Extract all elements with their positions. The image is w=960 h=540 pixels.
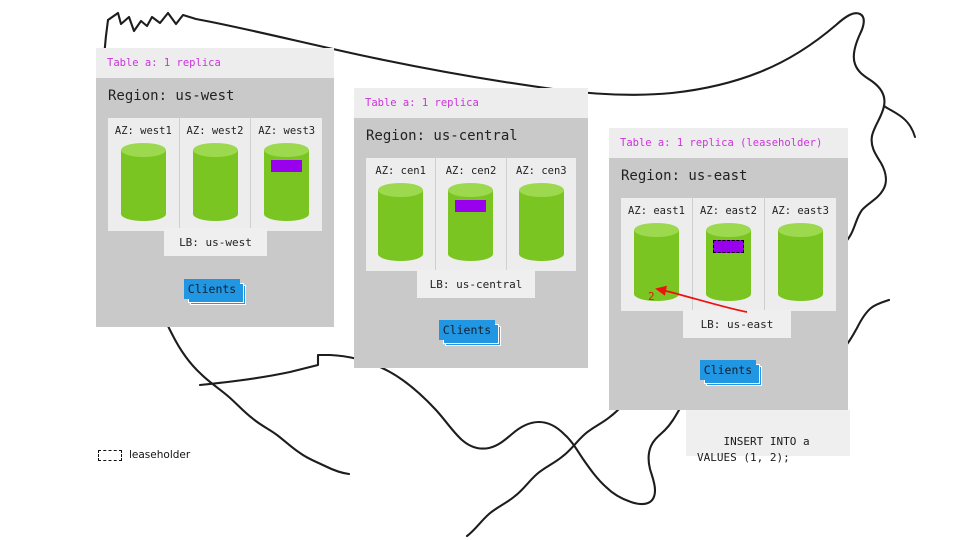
az-label: AZ: cen3 bbox=[516, 165, 567, 177]
clients-button[interactable]: Clients bbox=[700, 360, 756, 380]
cylinder-body bbox=[193, 150, 238, 214]
az-label: AZ: cen2 bbox=[446, 165, 497, 177]
cylinder-bottom bbox=[448, 247, 493, 261]
cylinder-top bbox=[519, 183, 564, 197]
cylinder-bottom bbox=[193, 207, 238, 221]
load-balancer-box-us-central[interactable]: LB: us-central bbox=[417, 270, 535, 298]
db-node-icon[interactable] bbox=[778, 223, 823, 301]
cylinder-body bbox=[121, 150, 166, 214]
cylinder-top bbox=[193, 143, 238, 157]
region-title-us-east: Region: us-east bbox=[609, 158, 848, 192]
cylinder-body bbox=[519, 190, 564, 254]
replica-status-label: Table a: 1 replica bbox=[365, 97, 479, 109]
az-label: AZ: east1 bbox=[628, 205, 685, 217]
load-balancer-box-us-west[interactable]: LB: us-west bbox=[164, 228, 267, 256]
region-panel-us-east: Table a: 1 replica (leaseholder) Region:… bbox=[609, 128, 848, 410]
az-cell-cen1[interactable]: AZ: cen1 bbox=[366, 158, 435, 271]
dashed-rect-icon bbox=[98, 450, 122, 461]
db-node-icon[interactable] bbox=[378, 183, 423, 261]
az-strip-us-central: AZ: cen1 AZ: cen2 AZ: cen3 bbox=[366, 158, 576, 271]
az-label: AZ: east2 bbox=[700, 205, 757, 217]
db-node-icon[interactable] bbox=[519, 183, 564, 261]
arrow-step-label: 2 bbox=[648, 290, 655, 303]
region-panel-us-central: Table a: 1 replica Region: us-central AZ… bbox=[354, 88, 588, 368]
sql-statement-callout: INSERT INTO a VALUES (1, 2); bbox=[686, 410, 850, 456]
clients-button[interactable]: Clients bbox=[184, 279, 240, 299]
cylinder-top bbox=[706, 223, 751, 237]
db-node-icon[interactable] bbox=[448, 183, 493, 261]
az-label: AZ: west2 bbox=[187, 125, 244, 137]
replica-status-label: Table a: 1 replica (leaseholder) bbox=[620, 137, 822, 149]
az-label: AZ: cen1 bbox=[375, 165, 426, 177]
cylinder-top bbox=[121, 143, 166, 157]
az-label: AZ: west1 bbox=[115, 125, 172, 137]
az-label: AZ: east3 bbox=[772, 205, 829, 217]
db-node-icon[interactable] bbox=[264, 143, 309, 221]
clients-button[interactable]: Clients bbox=[439, 320, 495, 340]
cylinder-bottom bbox=[378, 247, 423, 261]
cylinder-bottom bbox=[264, 207, 309, 221]
cylinder-bottom bbox=[519, 247, 564, 261]
clients-stack-us-west[interactable]: Clients bbox=[184, 279, 252, 307]
az-cell-west3[interactable]: AZ: west3 bbox=[250, 118, 322, 231]
db-node-icon[interactable] bbox=[193, 143, 238, 221]
region-panel-us-west: Table a: 1 replica Region: us-west AZ: w… bbox=[96, 48, 334, 327]
diagram-canvas: Table a: 1 replica Region: us-west AZ: w… bbox=[0, 0, 960, 540]
az-cell-east3[interactable]: AZ: east3 bbox=[764, 198, 836, 311]
region-title-us-west: Region: us-west bbox=[96, 78, 334, 112]
az-label: AZ: west3 bbox=[258, 125, 315, 137]
cylinder-bottom bbox=[778, 287, 823, 301]
clients-stack-us-east[interactable]: Clients bbox=[700, 360, 768, 388]
cylinder-top bbox=[378, 183, 423, 197]
panel-header-us-west: Table a: 1 replica bbox=[96, 48, 334, 78]
clients-label: Clients bbox=[704, 363, 752, 377]
load-balancer-label: LB: us-central bbox=[430, 278, 523, 291]
panel-header-us-east: Table a: 1 replica (leaseholder) bbox=[609, 128, 848, 158]
az-cell-cen3[interactable]: AZ: cen3 bbox=[506, 158, 576, 271]
load-balancer-label: LB: us-west bbox=[179, 236, 252, 249]
clients-stack-us-central[interactable]: Clients bbox=[439, 320, 507, 348]
db-node-icon[interactable] bbox=[121, 143, 166, 221]
region-title-us-central: Region: us-central bbox=[354, 118, 588, 152]
replica-marker bbox=[455, 200, 486, 212]
cylinder-body bbox=[378, 190, 423, 254]
replica-marker bbox=[271, 160, 302, 172]
replica-status-label: Table a: 1 replica bbox=[107, 57, 221, 69]
az-cell-west2[interactable]: AZ: west2 bbox=[179, 118, 251, 231]
az-cell-west1[interactable]: AZ: west1 bbox=[108, 118, 179, 231]
panel-header-us-central: Table a: 1 replica bbox=[354, 88, 588, 118]
legend-label: leaseholder bbox=[129, 449, 190, 461]
cylinder-top bbox=[778, 223, 823, 237]
clients-label: Clients bbox=[188, 282, 236, 296]
az-cell-cen2[interactable]: AZ: cen2 bbox=[435, 158, 505, 271]
cylinder-bottom bbox=[121, 207, 166, 221]
az-strip-us-west: AZ: west1 AZ: west2 AZ: west3 bbox=[108, 118, 322, 231]
cylinder-body bbox=[778, 230, 823, 294]
cylinder-top bbox=[634, 223, 679, 237]
leaseholder-replica-marker bbox=[713, 240, 744, 253]
cylinder-top bbox=[264, 143, 309, 157]
legend: leaseholder bbox=[98, 449, 190, 461]
clients-label: Clients bbox=[443, 323, 491, 337]
